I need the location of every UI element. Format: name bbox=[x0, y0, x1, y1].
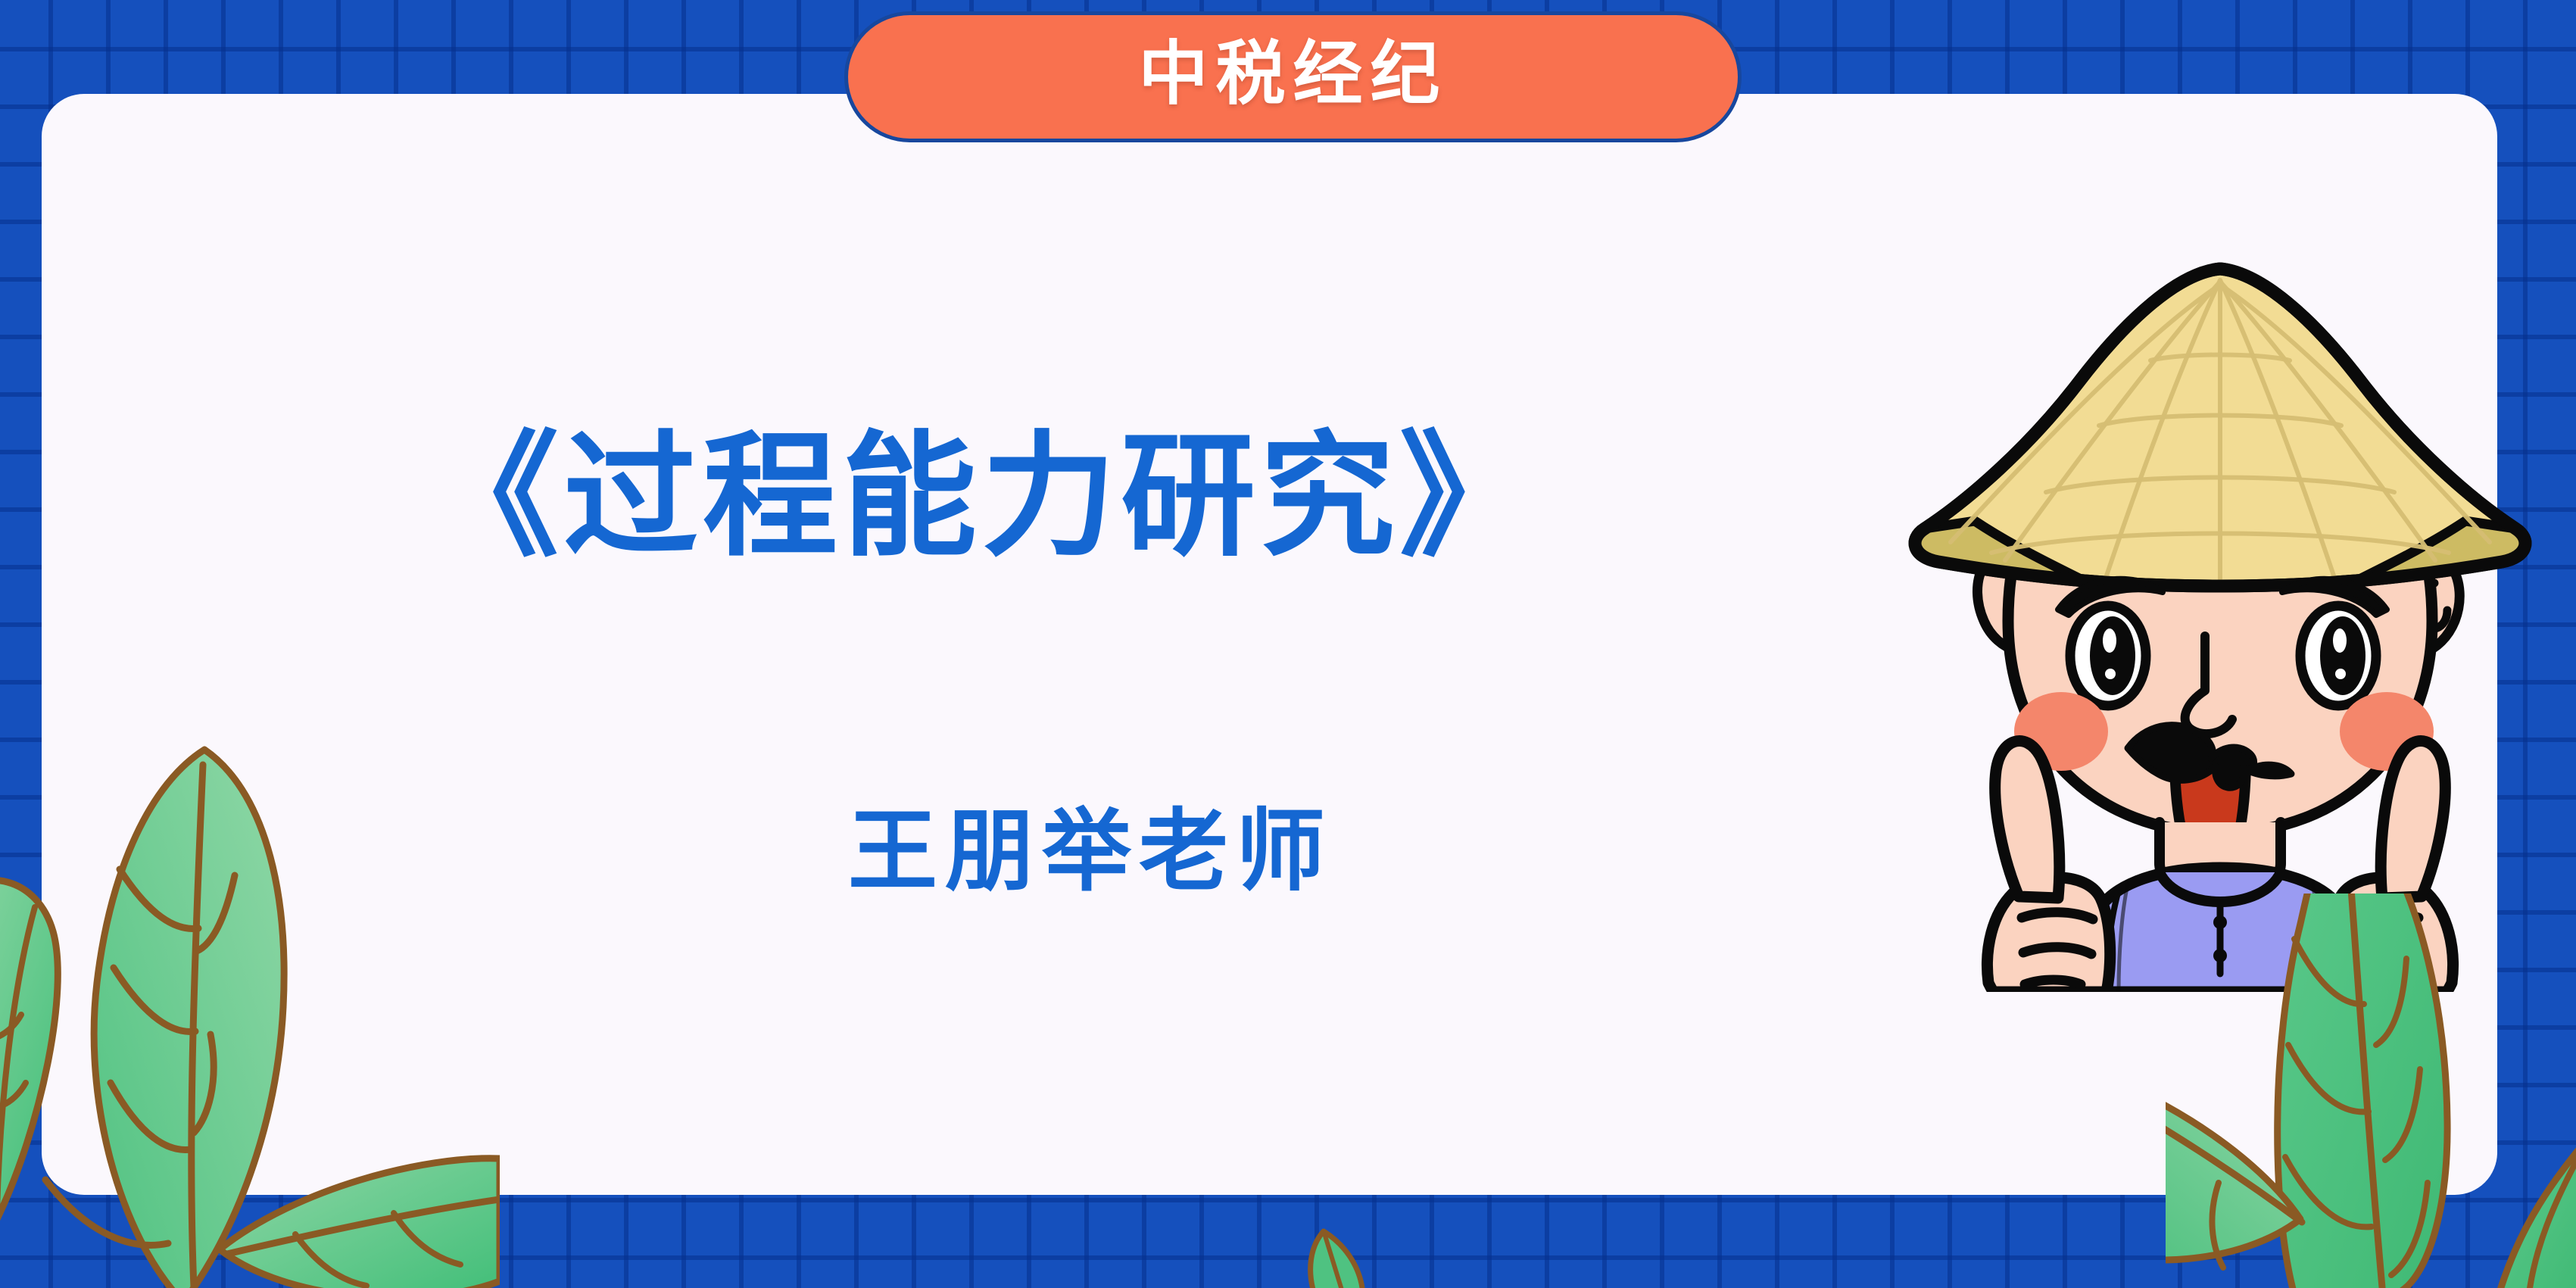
page-title: 《过程能力研究》 bbox=[424, 424, 1560, 569]
instructor-name: 王朋举老师 bbox=[848, 804, 1681, 900]
slide-root: 《过程能力研究》 王朋举老师 中税经纪 bbox=[0, 0, 2576, 1288]
content-card bbox=[42, 94, 2497, 1195]
brand-banner-label: 中税经纪 bbox=[1138, 39, 1447, 115]
brand-banner: 中税经纪 bbox=[844, 11, 1742, 142]
